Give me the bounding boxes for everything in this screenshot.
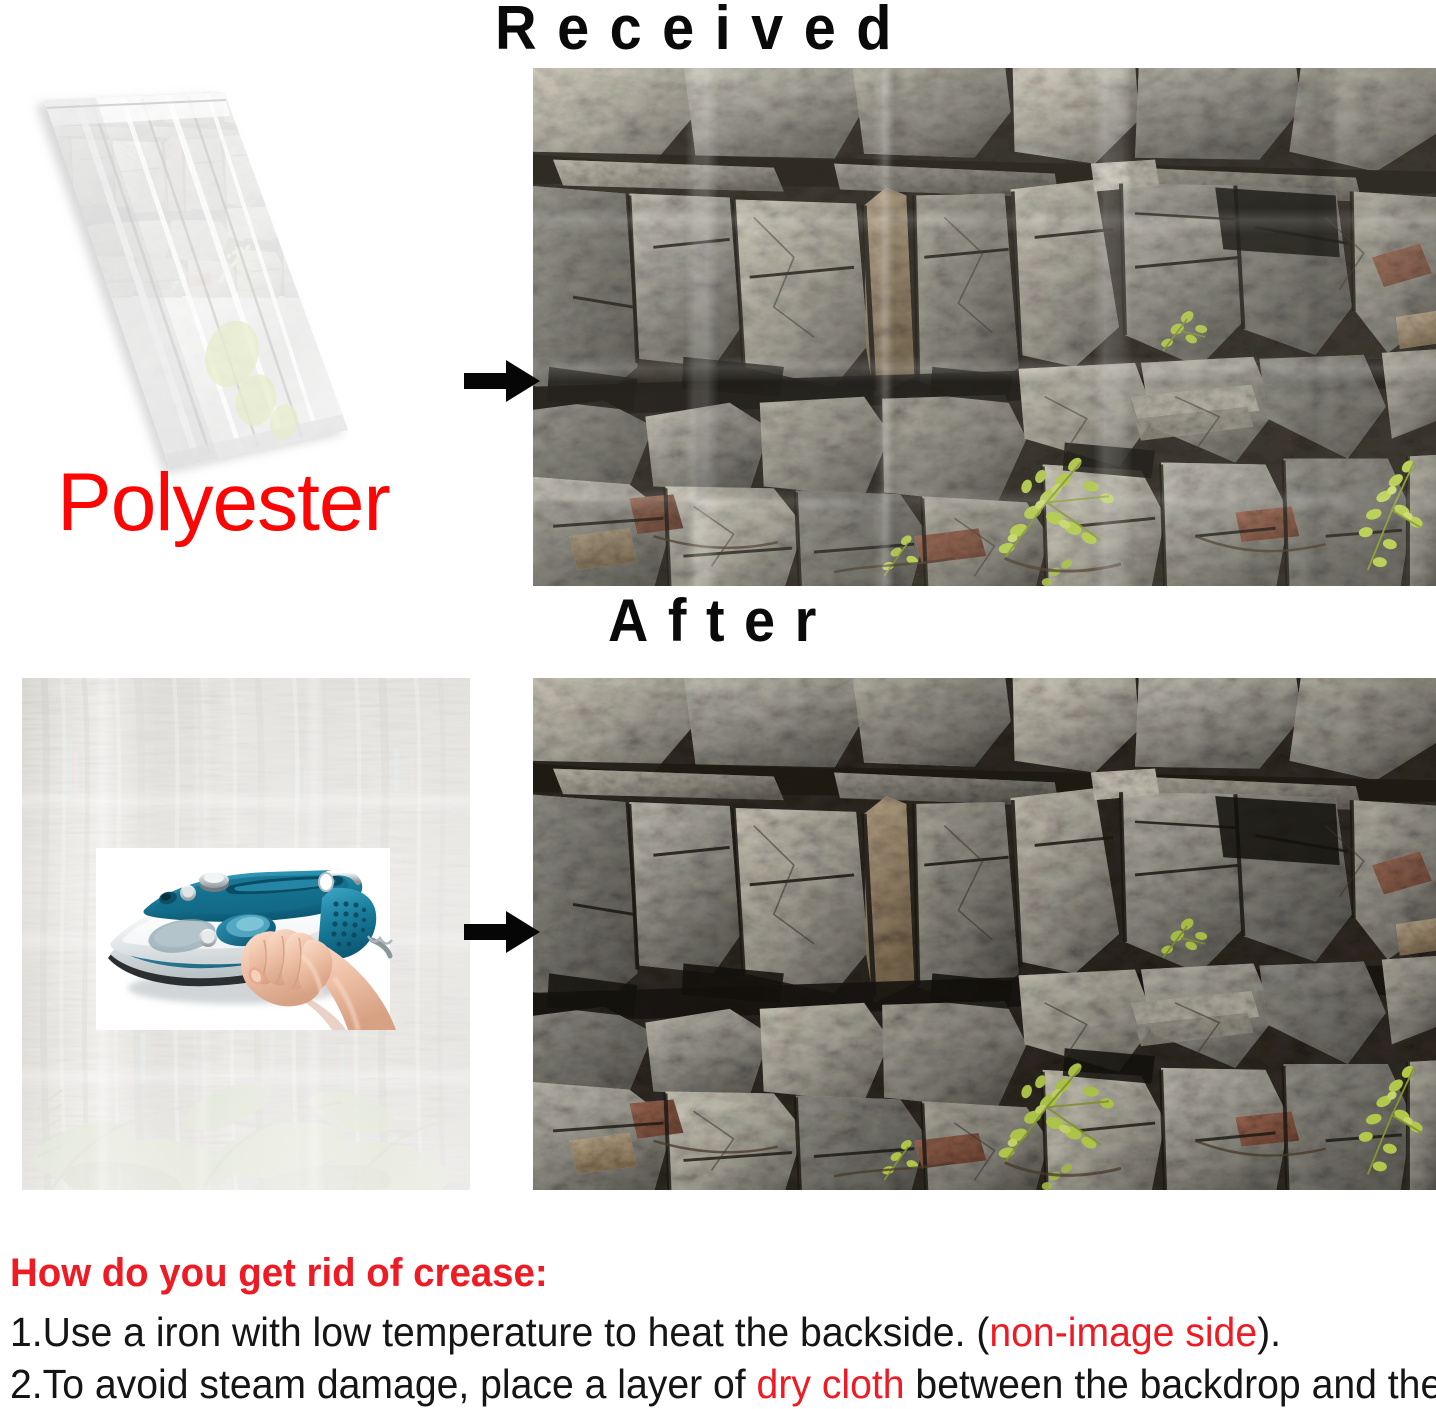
care-instructions: How do you get rid of crease: 1.Use a ir… — [10, 1252, 1434, 1409]
photo-after-smooth — [533, 678, 1436, 1190]
page-title-received: Received — [495, 0, 912, 60]
material-label-polyester: Polyester — [57, 462, 390, 544]
steam-iron-icon — [96, 848, 390, 1030]
instruction-2-suffix: between the backdrop and the iron. — [905, 1361, 1436, 1407]
instruction-1-prefix: 1.Use a iron with low temperature to hea… — [10, 1309, 989, 1355]
instruction-2-highlight: dry cloth — [757, 1361, 905, 1407]
right-arrow-icon — [462, 908, 542, 961]
page-title-after: After — [608, 591, 836, 651]
instructions-heading: How do you get rid of crease: — [10, 1252, 1377, 1295]
instruction-1-suffix: ). — [1257, 1309, 1281, 1355]
photo-received-creased — [533, 68, 1436, 586]
right-arrow-icon — [462, 357, 542, 410]
instruction-item-2: 2.To avoid steam damage, place a layer o… — [10, 1359, 1370, 1409]
instruction-1-highlight: non-image side — [989, 1309, 1257, 1355]
instruction-item-1: 1.Use a iron with low temperature to hea… — [10, 1307, 1370, 1357]
instruction-2-prefix: 2.To avoid steam damage, place a layer o… — [10, 1361, 757, 1407]
fabric-swatch-icon — [18, 78, 408, 478]
